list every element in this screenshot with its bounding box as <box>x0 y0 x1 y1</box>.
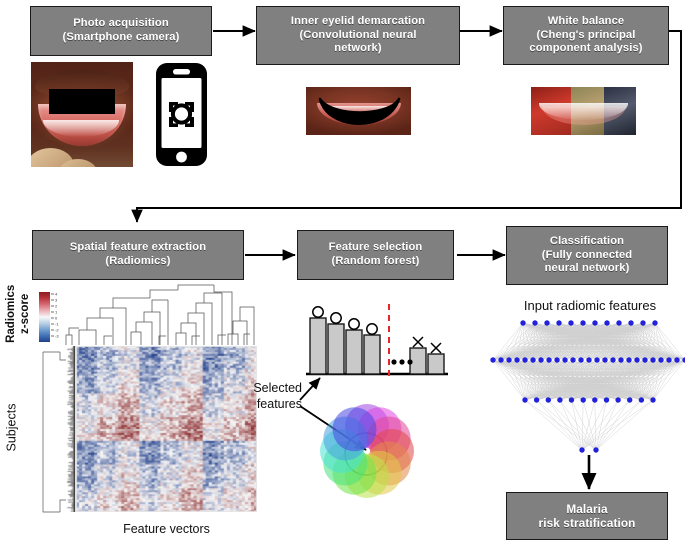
box-photo-acquisition[interactable]: Photo acquisition (Smartphone camera) <box>30 6 212 56</box>
box-eyelid-demarcation[interactable]: Inner eyelid demarcation (Convolutional … <box>256 6 460 65</box>
network-node-layer1 <box>592 320 597 325</box>
svg-text:-3: -3 <box>55 334 59 339</box>
network-node-layer1 <box>628 320 633 325</box>
network-node-layer3 <box>604 397 609 402</box>
feature-importance-chart <box>306 304 448 378</box>
network-node-layer3 <box>546 397 551 402</box>
network-node-layer4 <box>593 447 598 452</box>
marker-selected-2 <box>331 313 341 323</box>
network-node-layer1 <box>556 320 561 325</box>
network-node-layer1 <box>604 320 609 325</box>
network-node-layer1 <box>652 320 657 325</box>
network-title: Input radiomic features <box>495 298 685 314</box>
venn-petal <box>333 407 377 451</box>
network-node-layer2 <box>618 357 623 362</box>
feature-space-venn-diagram <box>301 393 451 501</box>
column-dendrogram <box>66 285 254 345</box>
marker-selected-4 <box>367 324 377 334</box>
marker-rejected-5 <box>413 337 423 347</box>
network-node-layer2 <box>498 357 503 362</box>
network-node-layer2 <box>538 357 543 362</box>
marker-selected-3 <box>349 319 359 329</box>
network-node-layer3 <box>534 397 539 402</box>
network-node-layer2 <box>650 357 655 362</box>
network-node-layer2 <box>506 357 511 362</box>
box-classification[interactable]: Classification (Fully connected neural n… <box>506 226 668 285</box>
network-node-layer2 <box>602 357 607 362</box>
network-node-layer1 <box>568 320 573 325</box>
smartphone-icon <box>155 62 208 167</box>
network-node-layer2 <box>554 357 559 362</box>
eyelid-photo-original <box>31 62 133 167</box>
network-node-layer2 <box>490 357 495 362</box>
network-node-layer3 <box>581 397 586 402</box>
network-node-layer2 <box>610 357 615 362</box>
bar-6 <box>428 354 444 374</box>
network-node-layer1 <box>544 320 549 325</box>
network-edges <box>493 323 685 450</box>
box-feature-selection[interactable]: Feature selection (Random forest) <box>297 230 454 280</box>
network-node-layer1 <box>580 320 585 325</box>
eyelid-photo-demarcated <box>306 87 411 135</box>
network-node-layer3 <box>592 397 597 402</box>
network-node-layer3 <box>569 397 574 402</box>
network-node-layer2 <box>522 357 527 362</box>
cnn-contour-overlay <box>306 87 411 135</box>
network-node-layer2 <box>530 357 535 362</box>
marker-selected-1 <box>313 307 323 317</box>
network-node-layer2 <box>514 357 519 362</box>
bar-3 <box>346 330 362 374</box>
network-node-layer4 <box>579 447 584 452</box>
network-node-layer1 <box>532 320 537 325</box>
selected-features-annotation: Selected features <box>250 381 302 412</box>
network-node-layer2 <box>634 357 639 362</box>
network-node-layer2 <box>546 357 551 362</box>
eyelid-photo-white-balanced <box>531 87 636 135</box>
network-node-layer1 <box>520 320 525 325</box>
network-node-layer3 <box>639 397 644 402</box>
bar-1 <box>310 318 326 374</box>
svg-text:1: 1 <box>55 310 58 315</box>
marker-rejected-6 <box>431 343 441 353</box>
network-node-layer2 <box>594 357 599 362</box>
heatmap-row-cluster-strip <box>66 346 76 512</box>
network-node-layer1 <box>640 320 645 325</box>
network-node-layer3 <box>650 397 655 402</box>
heatmap-y-axis-label: Subjects <box>5 398 20 458</box>
colorbar-tick-labels: 43 21 0-1 -2-3 <box>51 290 67 345</box>
svg-text:3: 3 <box>55 298 58 303</box>
chart-ellipsis-icon <box>391 359 412 364</box>
colorbar-title: Radiomics z-score <box>5 281 33 347</box>
box-feature-extraction[interactable]: Spatial feature extraction (Radiomics) <box>32 230 244 280</box>
svg-text:-1: -1 <box>55 322 59 327</box>
privacy-redaction-bar <box>49 89 114 114</box>
svg-text:-2: -2 <box>55 328 59 333</box>
network-node-layer3 <box>627 397 632 402</box>
radiomics-heatmap <box>76 346 257 512</box>
network-node-layer2 <box>666 357 671 362</box>
network-node-layer3 <box>522 397 527 402</box>
svg-text:0: 0 <box>55 316 58 321</box>
figure-canvas: Photo acquisition (Smartphone camera) In… <box>0 0 685 546</box>
network-node-layer1 <box>616 320 621 325</box>
network-node-layer3 <box>557 397 562 402</box>
svg-text:2: 2 <box>55 304 58 309</box>
network-node-layer2 <box>674 357 679 362</box>
network-node-layer2 <box>570 357 575 362</box>
heatmap-x-axis-label: Feature vectors <box>76 522 257 537</box>
box-white-balance[interactable]: White balance (Cheng's principal compone… <box>503 6 669 65</box>
network-node-layer2 <box>642 357 647 362</box>
bar-4 <box>364 335 380 374</box>
box-malaria-risk-stratification[interactable]: Malaria risk stratification <box>506 492 668 540</box>
network-node-layer2 <box>562 357 567 362</box>
network-node-layer2 <box>658 357 663 362</box>
svg-text:4: 4 <box>55 292 58 297</box>
network-node-layer3 <box>615 397 620 402</box>
network-node-layer2 <box>586 357 591 362</box>
network-node-layer2 <box>626 357 631 362</box>
bar-2 <box>328 324 344 374</box>
heatmap-colorbar <box>39 292 50 342</box>
network-node-layer2 <box>578 357 583 362</box>
